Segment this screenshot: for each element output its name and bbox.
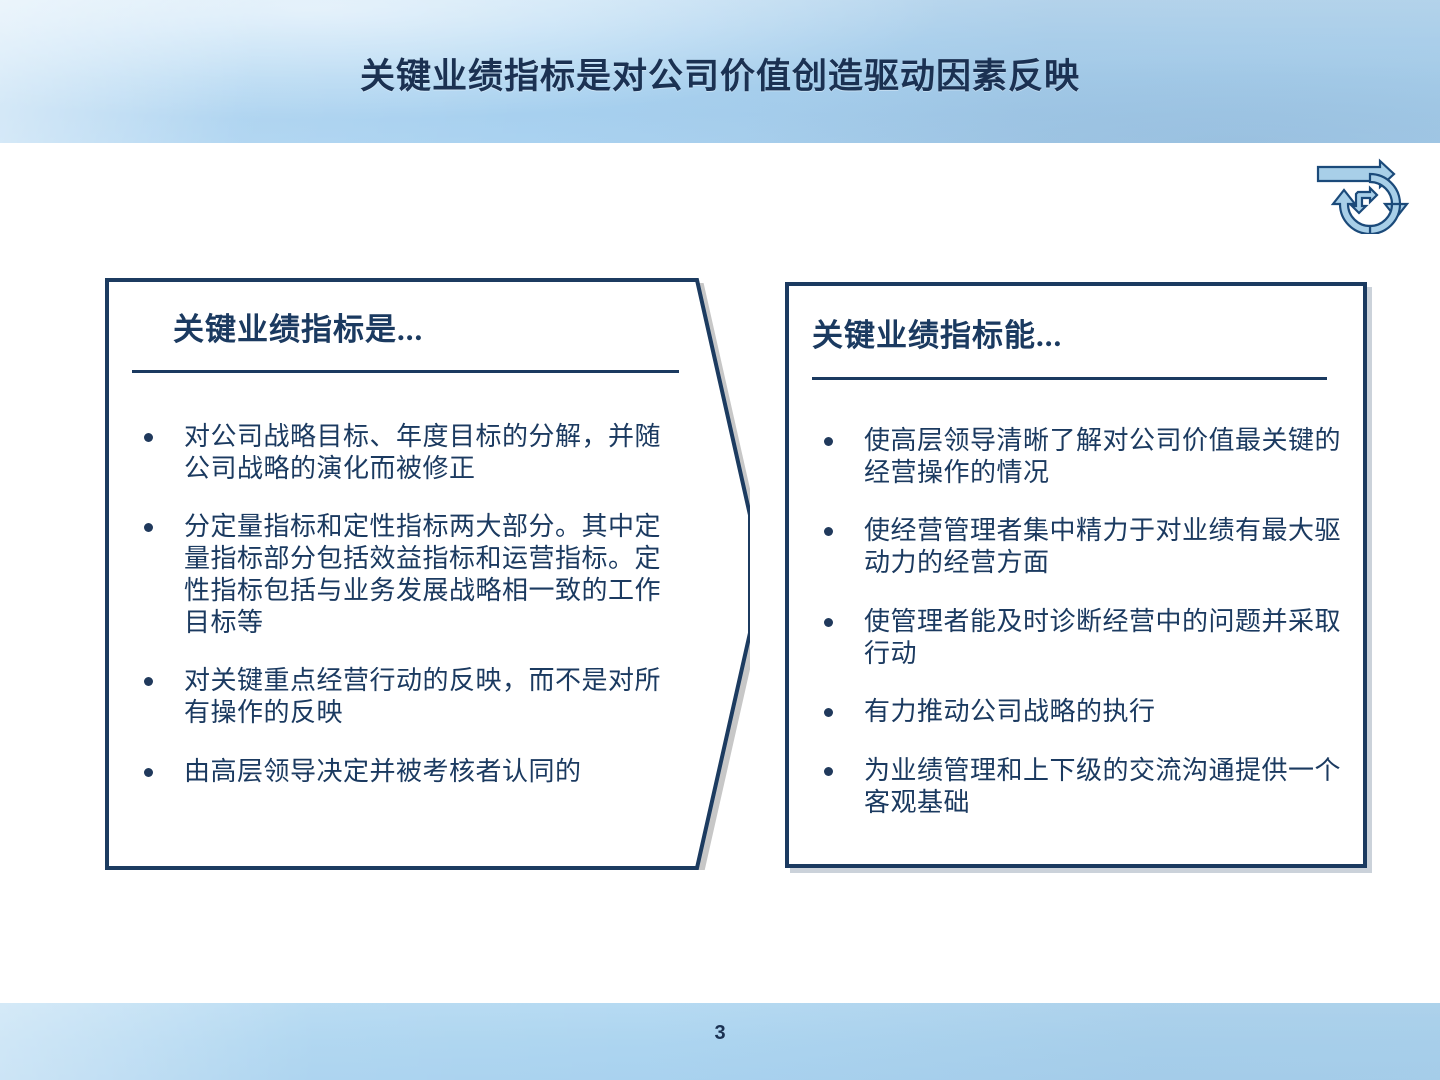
panel-right-kpi-can: 关键业绩指标能... 使高层领导清晰了解对公司价值最关键的经营操作的情况 使经营… xyxy=(785,282,1367,868)
page-title: 关键业绩指标是对公司价值创造驱动因素反映 xyxy=(0,48,1440,99)
panel-right-divider xyxy=(812,377,1327,380)
list-item-text: 使经营管理者集中精力于对业绩有最大驱动力的经营方面 xyxy=(864,516,1341,577)
list-item-text: 有力推动公司战略的执行 xyxy=(864,697,1156,726)
panel-right-heading-wrap: 关键业绩指标能... xyxy=(789,310,1363,355)
list-item: 对关键重点经营行动的反映，而不是对所有操作的反映 xyxy=(132,665,685,728)
list-item: 使管理者能及时诊断经营中的问题并采取行动 xyxy=(812,606,1342,669)
page-number: 3 xyxy=(0,1022,1440,1045)
list-item-text: 分定量指标和定性指标两大部分。其中定量指标部分包括效益指标和运营指标。定性指标包… xyxy=(184,512,661,636)
panel-left-bullet-list: 对公司战略目标、年度目标的分解，并随公司战略的演化而被修正 分定量指标和定性指标… xyxy=(132,421,685,787)
panel-right-heading: 关键业绩指标能... xyxy=(812,310,1363,355)
panel-left-heading: 关键业绩指标是... xyxy=(173,304,678,349)
list-item: 有力推动公司战略的执行 xyxy=(812,696,1342,728)
bullet-dot-icon xyxy=(144,768,153,777)
list-item-text: 对关键重点经营行动的反映，而不是对所有操作的反映 xyxy=(184,666,661,727)
list-item-text: 使管理者能及时诊断经营中的问题并采取行动 xyxy=(864,607,1341,668)
list-item: 使高层领导清晰了解对公司价值最关键的经营操作的情况 xyxy=(812,425,1342,488)
list-item-text: 对公司战略目标、年度目标的分解，并随公司战略的演化而被修正 xyxy=(184,422,661,483)
list-item: 由高层领导决定并被考核者认同的 xyxy=(132,756,685,788)
bullet-dot-icon xyxy=(824,437,833,446)
list-item: 对公司战略目标、年度目标的分解，并随公司战略的演化而被修正 xyxy=(132,421,685,484)
panel-left-heading-wrap: 关键业绩指标是... xyxy=(105,304,690,349)
panel-left-divider xyxy=(132,370,679,373)
bullet-dot-icon xyxy=(824,708,833,717)
list-item-text: 使高层领导清晰了解对公司价值最关键的经营操作的情况 xyxy=(864,426,1341,487)
bullet-dot-icon xyxy=(824,767,833,776)
slide-canvas: 关键业绩指标是对公司价值创造驱动因素反映 xyxy=(0,0,1440,1080)
panel-left-kpi-is: 关键业绩指标是... 对公司战略目标、年度目标的分解，并随公司战略的演化而被修正… xyxy=(105,278,750,870)
list-item-text: 由高层领导决定并被考核者认同的 xyxy=(184,757,582,786)
bullet-dot-icon xyxy=(144,433,153,442)
list-item: 为业绩管理和上下级的交流沟通提供一个客观基础 xyxy=(812,755,1342,818)
panel-right-bullet-list: 使高层领导清晰了解对公司价值最关键的经营操作的情况 使经营管理者集中精力于对业绩… xyxy=(812,425,1342,818)
cycle-arrows-logo xyxy=(1314,158,1418,234)
bullet-dot-icon xyxy=(144,523,153,532)
list-item-text: 为业绩管理和上下级的交流沟通提供一个客观基础 xyxy=(864,756,1341,817)
list-item: 使经营管理者集中精力于对业绩有最大驱动力的经营方面 xyxy=(812,515,1342,578)
bullet-dot-icon xyxy=(144,677,153,686)
bullet-dot-icon xyxy=(824,527,833,536)
panel-left-content: 关键业绩指标是... 对公司战略目标、年度目标的分解，并随公司战略的演化而被修正… xyxy=(105,278,690,870)
list-item: 分定量指标和定性指标两大部分。其中定量指标部分包括效益指标和运营指标。定性指标包… xyxy=(132,511,685,638)
bullet-dot-icon xyxy=(824,618,833,627)
